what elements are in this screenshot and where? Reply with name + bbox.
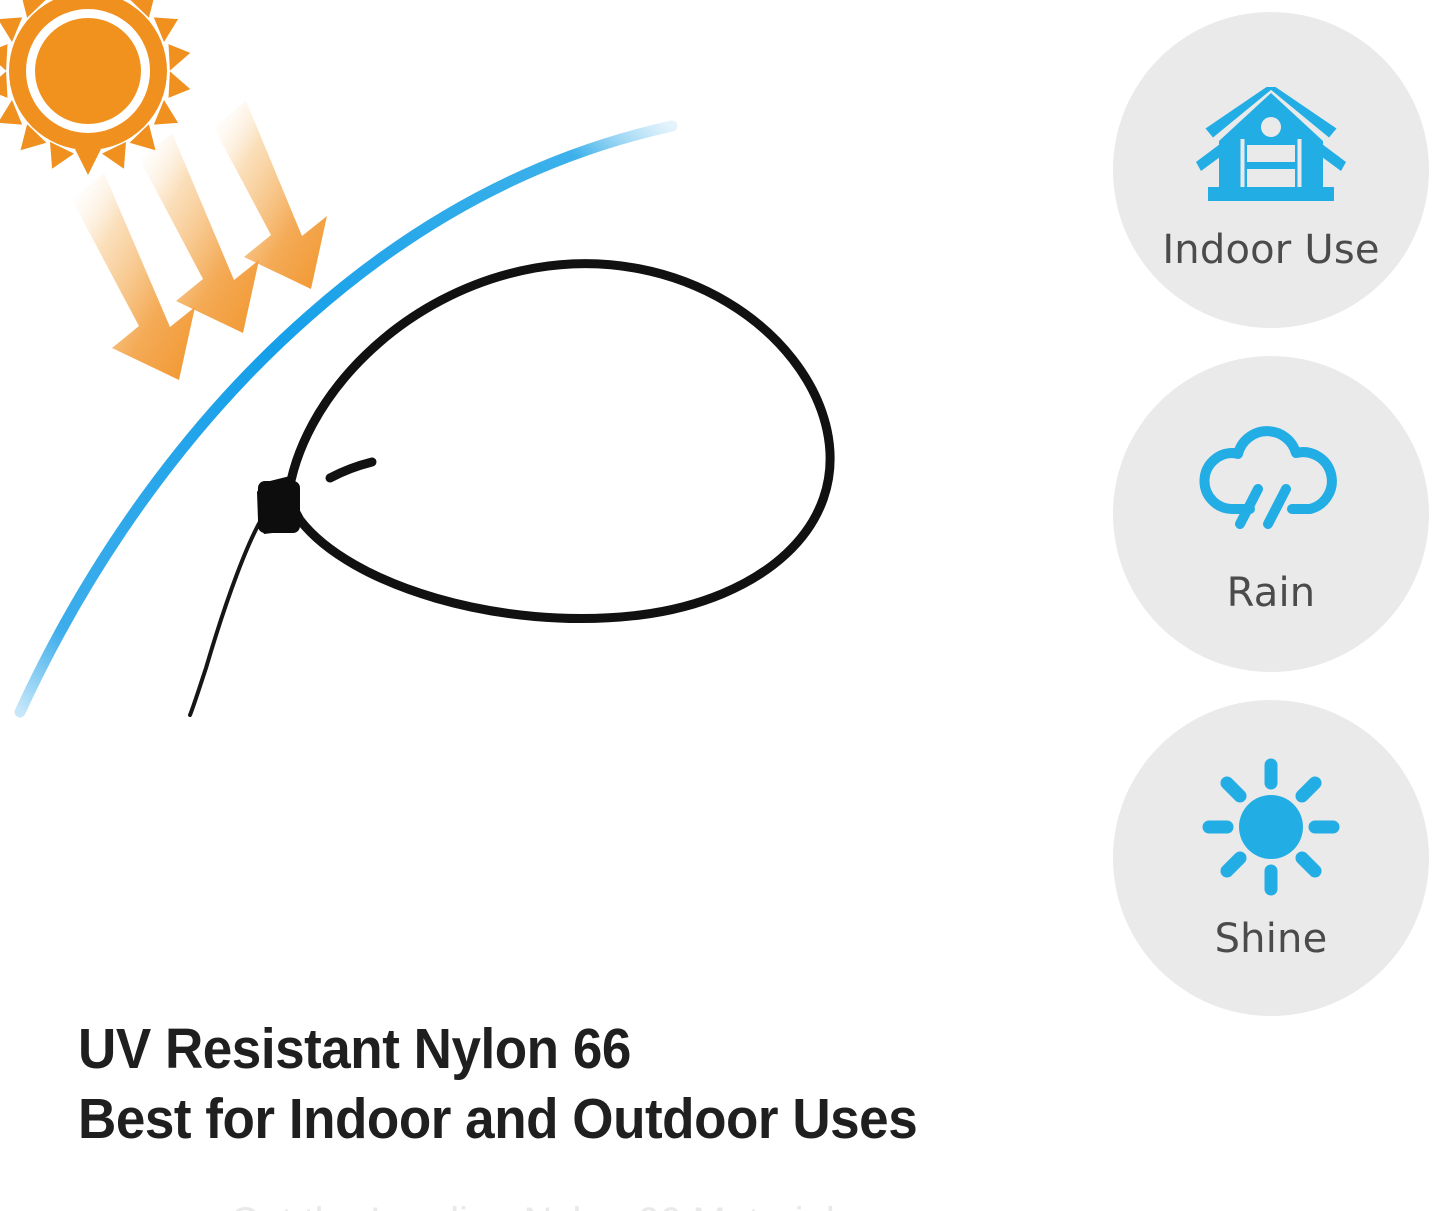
badge-label-indoor-use: Indoor Use <box>1162 230 1379 270</box>
badge-indoor-use[interactable]: Indoor Use <box>1113 12 1429 328</box>
cable-tie-head <box>257 476 300 534</box>
feature-badge-column: Indoor Use Rain <box>1113 12 1429 1012</box>
badge-label-shine: Shine <box>1215 919 1328 959</box>
headline-block: UV Resistant Nylon 66 Best for Indoor an… <box>78 1014 1058 1154</box>
product-infographic: Indoor Use Rain <box>0 0 1432 1211</box>
badge-shine[interactable]: Shine <box>1113 700 1429 1016</box>
bottom-caption-clipped: Cut the Leading Nylon 66 Material <box>230 1198 1130 1211</box>
rain-cloud-icon <box>1191 415 1351 547</box>
headline-line-1: UV Resistant Nylon 66 <box>78 1014 989 1084</box>
uv-resistance-illustration <box>0 0 1090 1000</box>
uv-ray-arrow-icon-3 <box>214 101 327 289</box>
house-icon <box>1191 70 1351 220</box>
badge-rain[interactable]: Rain <box>1113 356 1429 672</box>
sun-shine-icon <box>1191 757 1351 897</box>
headline-line-2: Best for Indoor and Outdoor Uses <box>78 1084 989 1154</box>
badge-label-rain: Rain <box>1227 573 1316 613</box>
